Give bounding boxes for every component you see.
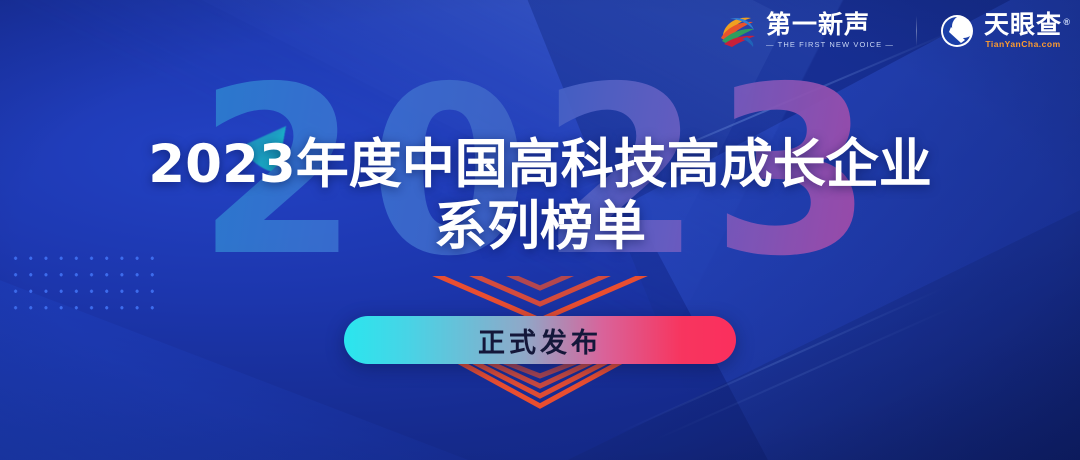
diyixinsheng-logo-icon — [717, 13, 757, 49]
diyixinsheng-logo-text: 第一新声 — THE FIRST NEW VOICE — — [766, 12, 894, 50]
title-line-2: 系列榜单 — [0, 196, 1080, 258]
tianyancha-name-cn: 天眼查 ® — [984, 12, 1062, 39]
logo-bar: 第一新声 — THE FIRST NEW VOICE — 天眼查 ® TianY… — [717, 12, 1062, 50]
title-line-1: 2023年度中国高科技高成长企业 — [0, 134, 1080, 196]
tianyancha-name-cn-text: 天眼查 — [984, 11, 1062, 39]
poster-canvas: 2023 第一新声 — THE FIRST NEW VOICE — — [0, 0, 1080, 460]
tianyancha-logo-icon — [939, 13, 975, 49]
registered-trademark-icon: ® — [1063, 9, 1071, 36]
publish-button[interactable]: 正式发布 — [344, 316, 736, 364]
poster-title: 2023年度中国高科技高成长企业 系列榜单 — [0, 134, 1080, 258]
tianyancha-logo-text: 天眼查 ® TianYanCha.com — [984, 12, 1062, 50]
logo-diyixinsheng[interactable]: 第一新声 — THE FIRST NEW VOICE — — [717, 12, 894, 50]
logo-divider — [916, 16, 917, 46]
logo-tianyancha[interactable]: 天眼查 ® TianYanCha.com — [939, 12, 1062, 50]
tianyancha-name-en: TianYanCha.com — [984, 39, 1062, 50]
diyixinsheng-name-en: — THE FIRST NEW VOICE — — [766, 39, 894, 50]
diyixinsheng-name-cn: 第一新声 — [766, 12, 894, 39]
